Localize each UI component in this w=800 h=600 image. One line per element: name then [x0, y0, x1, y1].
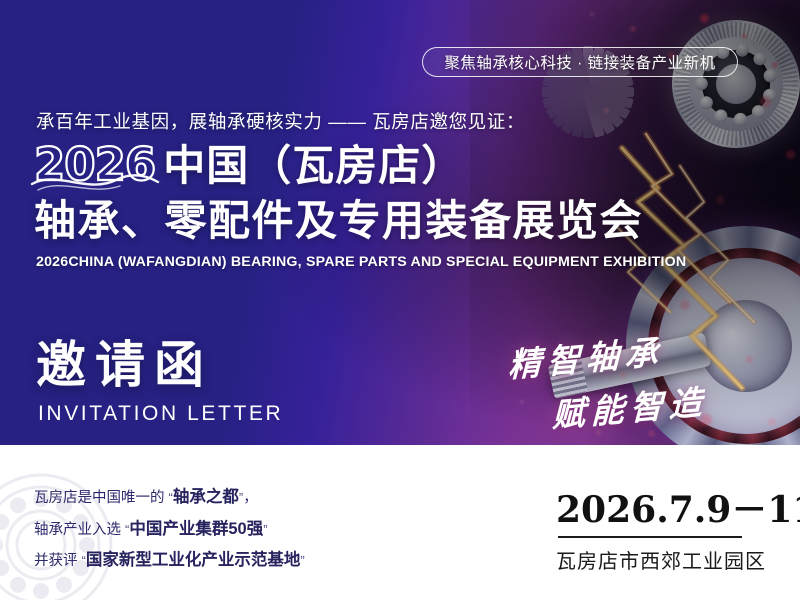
title-line-1: 2026 中国（瓦房店）: [34, 142, 464, 187]
quote-close: ”: [300, 553, 304, 568]
facts-list: 瓦房店是中国唯一的 “轴承之都”，轴承产业入选 “中国产业集群50强”并获评 “…: [34, 489, 414, 584]
fact-line: 轴承产业入选 “中国产业集群50强”: [34, 521, 414, 538]
event-venue: 瓦房店市西郊工业园区: [556, 545, 756, 574]
date-divider: [558, 536, 742, 538]
fact-prefix: 瓦房店是中国唯一的: [34, 490, 169, 506]
quote-close: ”: [263, 522, 267, 537]
fact-highlight: 国家新型工业化产业示范基地: [86, 551, 301, 569]
hero-banner: 聚焦轴承核心科技 · 链接装备产业新机 承百年工业基因，展轴承硬核实力 —— 瓦…: [0, 0, 800, 462]
title-line-2: 轴承、零配件及专用装备展览会: [34, 200, 643, 242]
fact-line: 并获评 “国家新型工业化产业示范基地”: [34, 552, 414, 569]
tagline-text: 聚焦轴承核心科技 · 链接装备产业新机: [444, 51, 715, 73]
fact-highlight: 中国产业集群50强: [129, 520, 263, 538]
invitation-poster: 聚焦轴承核心科技 · 链接装备产业新机 承百年工业基因，展轴承硬核实力 —— 瓦…: [0, 0, 800, 600]
fact-suffix: ，: [243, 490, 258, 506]
invitation-title-cn: 邀请函: [36, 340, 213, 390]
fact-prefix: 轴承产业入选: [34, 522, 125, 538]
tagline-pill: 聚焦轴承核心科技 · 链接装备产业新机: [422, 47, 738, 77]
title-cn-line-1: 中国（瓦房店）: [163, 145, 464, 187]
kicker-text: 承百年工业基因，展轴承硬核实力 —— 瓦房店邀您见证：: [36, 108, 525, 134]
fact-line: 瓦房店是中国唯一的 “轴承之都”，: [34, 489, 414, 506]
fact-highlight: 轴承之都: [173, 488, 239, 506]
event-date-block: 2026.7.9－11 瓦房店市西郊工业园区: [556, 492, 756, 574]
event-date: 2026.7.9－11: [556, 492, 756, 528]
fact-prefix: 并获评: [34, 553, 82, 569]
title-year: 2026: [34, 142, 155, 187]
title-english-subtitle: 2026CHINA (WAFANGDIAN) BEARING, SPARE PA…: [36, 254, 686, 270]
invitation-title-en: INVITATION LETTER: [38, 402, 283, 426]
calligraphy-slogan: 精智轴承 赋能智造: [500, 330, 760, 445]
calligraphy-line-2: 赋能智造: [552, 375, 708, 437]
calligraphy-line-1: 精智轴承: [508, 325, 664, 387]
